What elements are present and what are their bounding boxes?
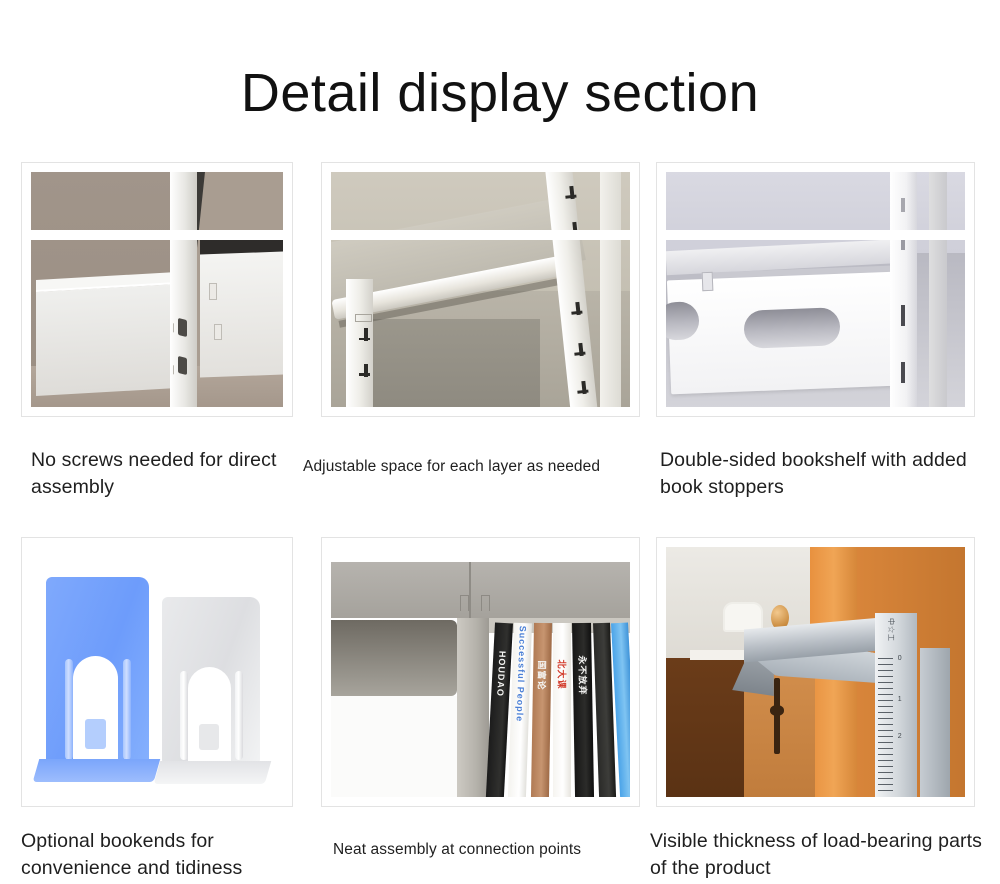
card-caption-load-bearing-thickness: Visible thickness of load-bearing parts … xyxy=(650,828,996,882)
scene-book-stopper-lower xyxy=(666,240,965,407)
detail-card-load-bearing-thickness[interactable]: 0 1 2 中☆工 xyxy=(656,537,975,807)
book-spine: 永不放弃 xyxy=(572,622,594,797)
product-photo xyxy=(31,172,283,407)
book-spine: Successful People xyxy=(508,622,532,797)
scene-neat-assembly: HOUDAO Successful People 国富论 北大课 xyxy=(331,547,630,797)
product-photo: HOUDAO Successful People 国富论 北大课 xyxy=(331,547,630,797)
bookend-white xyxy=(162,597,260,763)
card-frame xyxy=(656,162,975,417)
page-title: Detail display section xyxy=(0,57,1000,129)
photo-band-bottom xyxy=(666,240,965,407)
book-spine: 北大课 xyxy=(553,623,571,797)
caliper-tick-label: 2 xyxy=(898,733,902,740)
card-frame: 0 1 2 中☆工 xyxy=(656,537,975,807)
card-caption-double-sided-bookshelf: Double-sided bookshelf with added book s… xyxy=(660,447,990,501)
photo-band-top xyxy=(331,172,630,230)
book-row: HOUDAO Successful People 国富论 北大课 xyxy=(492,623,630,797)
detail-card-double-sided-bookshelf[interactable] xyxy=(656,162,975,417)
photo-band-bottom xyxy=(31,240,283,407)
scene-caliper: 0 1 2 中☆工 xyxy=(666,547,965,797)
book-spine-label: 北大课 xyxy=(555,660,568,690)
card-caption-no-screws-assembly: No screws needed for direct assembly xyxy=(31,447,293,501)
card-frame xyxy=(21,537,293,807)
scene-book-stopper xyxy=(666,172,965,230)
book-spine-label: Successful People xyxy=(515,625,528,722)
scene-bookends xyxy=(31,547,283,797)
photo-band-top xyxy=(666,172,965,230)
photo-band-top xyxy=(31,172,283,230)
book-spine: 国富论 xyxy=(531,622,552,797)
photo-band-bottom: HOUDAO Successful People 国富论 北大课 xyxy=(331,547,630,797)
book-spine-label: HOUDAO xyxy=(495,650,507,696)
card-caption-neat-assembly: Neat assembly at connection points xyxy=(333,838,653,862)
card-caption-adjustable-space: Adjustable space for each layer as neede… xyxy=(303,455,633,479)
product-photo: 0 1 2 中☆工 xyxy=(666,547,965,797)
product-photo xyxy=(666,172,965,407)
photo-band-bottom xyxy=(31,547,283,797)
caliper-brand-mark: 中☆工 xyxy=(886,618,896,642)
card-caption-optional-bookends: Optional bookends for convenience and ti… xyxy=(21,828,321,882)
scene-no-screws-lower xyxy=(31,240,283,407)
product-photo xyxy=(31,547,283,797)
card-frame xyxy=(321,162,640,417)
card-frame: HOUDAO Successful People 国富论 北大课 xyxy=(321,537,640,807)
caliper-scale xyxy=(878,658,893,794)
scene-adjustable xyxy=(331,172,630,230)
scene-no-screws xyxy=(31,172,283,230)
bookend-blue xyxy=(46,577,149,763)
photo-band-bottom: 0 1 2 中☆工 xyxy=(666,547,965,797)
product-photo xyxy=(331,172,630,407)
book-spine-label: 永不放弃 xyxy=(576,655,590,695)
caliper-tick-label: 1 xyxy=(898,696,902,703)
book-spine-label: 国富论 xyxy=(535,660,549,690)
detail-card-neat-assembly[interactable]: HOUDAO Successful People 国富论 北大课 xyxy=(321,537,640,807)
card-frame xyxy=(21,162,293,417)
detail-card-no-screws-assembly[interactable] xyxy=(21,162,293,417)
detail-card-adjustable-space[interactable] xyxy=(321,162,640,417)
detail-card-optional-bookends[interactable] xyxy=(21,537,293,807)
caliper-tick-label: 0 xyxy=(898,655,902,662)
photo-band-bottom xyxy=(331,240,630,407)
scene-adjustable-lower xyxy=(331,240,630,407)
hinge-icon xyxy=(723,602,763,631)
